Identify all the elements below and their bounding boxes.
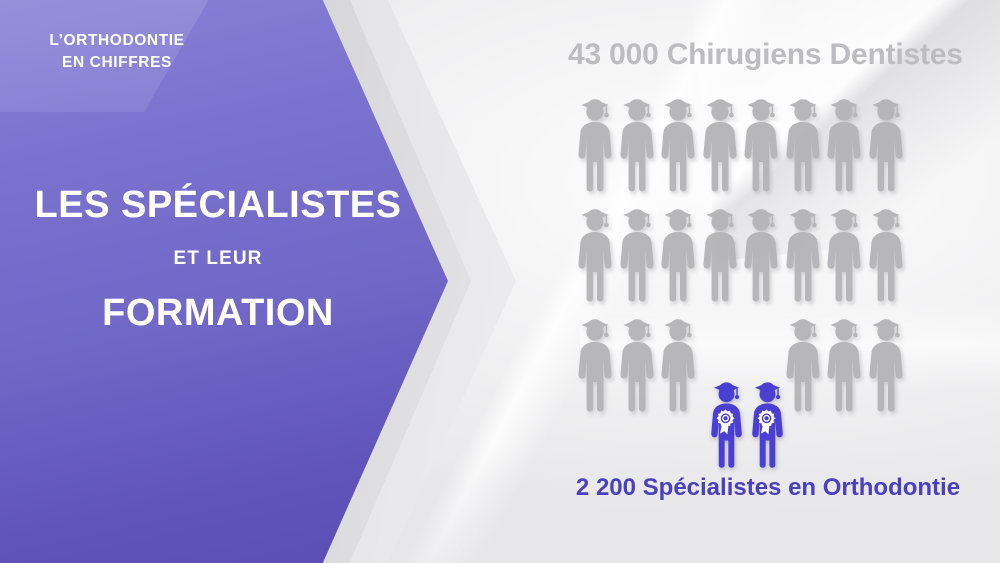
grey-graduate-person-icon — [824, 312, 864, 412]
kicker-line-1: L’ORTHODONTIE — [22, 30, 212, 52]
purple-graduate-specialist-icon — [749, 374, 786, 470]
grey-graduate-person-icon — [824, 202, 864, 302]
title-secondary: FORMATION — [8, 292, 428, 335]
grey-graduate-person-icon — [824, 92, 864, 192]
purple-graduate-specialist-icon — [708, 374, 745, 470]
grey-graduate-person-icon — [741, 202, 781, 302]
title-block: LES SPÉCIALISTES ET LEUR FORMATION — [8, 186, 428, 335]
caption-specialists: 2 200 Spécialistes en Orthodontie — [568, 474, 968, 502]
grey-graduate-person-icon — [617, 312, 657, 412]
grey-graduate-person-icon — [866, 202, 906, 302]
kicker-text: L’ORTHODONTIE EN CHIFFRES — [22, 30, 212, 75]
grey-graduate-person-icon — [783, 92, 823, 192]
grey-graduate-person-icon — [741, 92, 781, 192]
grey-graduate-person-icon — [617, 92, 657, 192]
grey-graduate-person-icon — [700, 92, 740, 192]
title-connector: ET LEUR — [8, 248, 428, 270]
pictogram-chart — [575, 92, 975, 462]
grey-graduate-person-icon — [575, 202, 615, 302]
grey-graduate-person-icon — [783, 202, 823, 302]
kicker-line-2: EN CHIFFRES — [22, 52, 212, 74]
grey-graduate-person-icon — [783, 312, 823, 412]
infographic-slide: L’ORTHODONTIE EN CHIFFRES LES SPÉCIALIST… — [0, 0, 1000, 563]
grey-graduate-person-icon — [575, 92, 615, 192]
grey-graduate-person-icon — [866, 92, 906, 192]
grey-graduate-person-icon — [700, 202, 740, 302]
grey-graduate-person-icon — [658, 312, 698, 412]
headline-dentists: 43 000 Chirugiens Dentistes — [568, 38, 978, 72]
grey-graduate-person-icon — [617, 202, 657, 302]
grey-graduate-person-icon — [658, 92, 698, 192]
grey-graduate-person-icon — [575, 312, 615, 412]
grey-graduate-person-icon — [658, 202, 698, 302]
page-title: LES SPÉCIALISTES — [8, 186, 428, 226]
grey-graduate-person-icon — [866, 312, 906, 412]
